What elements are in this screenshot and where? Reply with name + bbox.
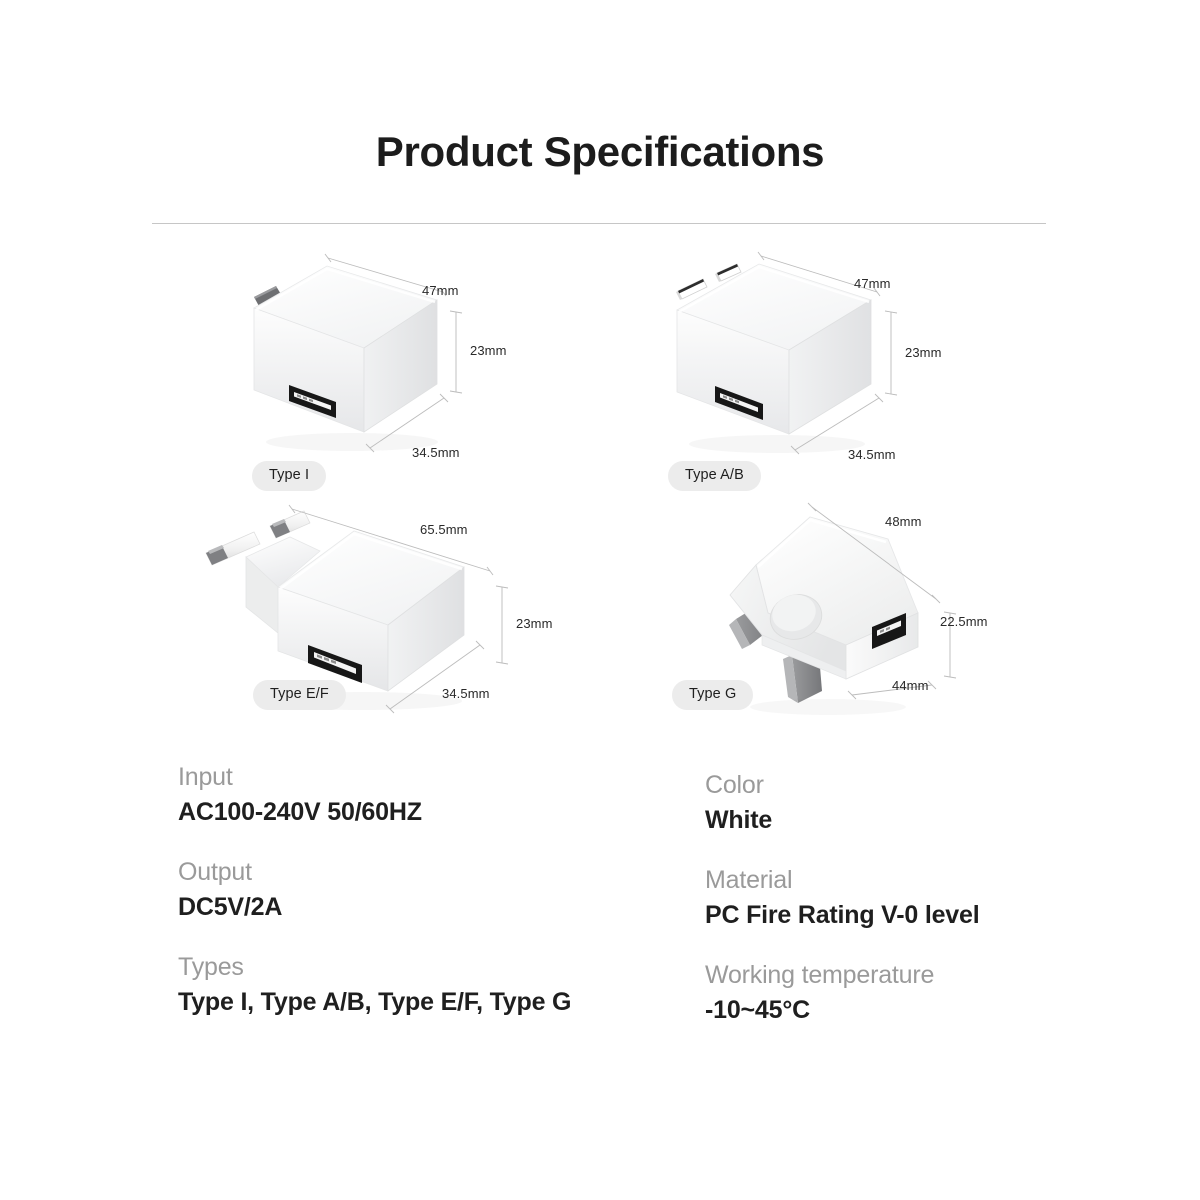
dimension-label-depth: 34.5mm xyxy=(412,446,460,459)
type-pill-type-i[interactable]: Type I xyxy=(252,461,326,491)
spec-column-right: Color White Material PC Fire Rating V-0 … xyxy=(705,770,1125,1026)
spec-label: Color xyxy=(705,770,1125,801)
dimension-label-depth: 34.5mm xyxy=(848,448,896,461)
spec-value: White xyxy=(705,804,1125,837)
dimension-label-length: 65.5mm xyxy=(420,523,468,536)
dimension-label-length: 48mm xyxy=(885,515,922,528)
product-figure-type-i: 47mm 23mm 34.5mm xyxy=(232,252,532,492)
spec-label: Output xyxy=(178,857,668,888)
spec-value: -10~45°C xyxy=(705,994,1125,1027)
spec-label: Working temperature xyxy=(705,960,1125,991)
dimension-label-height: 23mm xyxy=(516,617,553,630)
product-figure-type-ef: 65.5mm 23mm 34.5mm xyxy=(192,495,552,725)
type-pill-type-ef[interactable]: Type E/F xyxy=(253,680,346,710)
dimension-label-depth: 44mm xyxy=(892,679,929,692)
dimension-label-length: 47mm xyxy=(854,277,891,290)
spec-label: Types xyxy=(178,952,668,983)
spec-label: Material xyxy=(705,865,1125,896)
plug-pin-eu-upper xyxy=(270,511,310,538)
spec-group-color: Color White xyxy=(705,770,1125,837)
page-title: Product Specifications xyxy=(0,128,1200,176)
dimension-label-depth: 34.5mm xyxy=(442,687,490,700)
spec-value: AC100-240V 50/60HZ xyxy=(178,796,668,829)
spec-value: Type I, Type A/B, Type E/F, Type G xyxy=(178,986,668,1019)
spec-value: DC5V/2A xyxy=(178,891,668,924)
product-illustration-type-ab xyxy=(655,248,965,493)
dimension-label-height: 23mm xyxy=(470,344,507,357)
product-figure-type-ab: 47mm 23mm 34.5mm xyxy=(655,248,965,493)
spec-label: Input xyxy=(178,762,668,793)
spec-group-output: Output DC5V/2A xyxy=(178,857,668,924)
spec-group-input: Input AC100-240V 50/60HZ xyxy=(178,762,668,829)
spec-value: PC Fire Rating V-0 level xyxy=(705,899,1125,932)
type-pill-type-ab[interactable]: Type A/B xyxy=(668,461,761,491)
dimension-label-height: 22.5mm xyxy=(940,615,988,628)
dimension-label-height: 23mm xyxy=(905,346,942,359)
dimension-label-length: 47mm xyxy=(422,284,459,297)
product-illustration-type-i xyxy=(232,252,532,492)
spec-group-material: Material PC Fire Rating V-0 level xyxy=(705,865,1125,932)
spec-group-types: Types Type I, Type A/B, Type E/F, Type G xyxy=(178,952,668,1019)
type-pill-type-g[interactable]: Type G xyxy=(672,680,753,710)
spec-group-working-temperature: Working temperature -10~45°C xyxy=(705,960,1125,1027)
title-divider xyxy=(152,223,1046,224)
spec-column-left: Input AC100-240V 50/60HZ Output DC5V/2A … xyxy=(178,762,668,1018)
product-illustration-type-ef xyxy=(192,495,552,725)
